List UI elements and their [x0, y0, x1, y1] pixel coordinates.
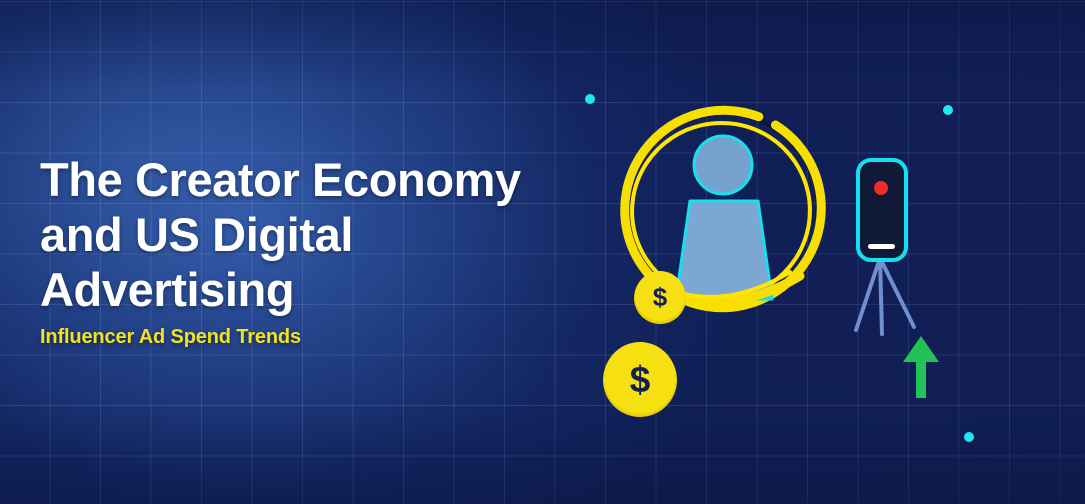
banner-root: The Creator Economy and US Digital Adver… [0, 0, 1085, 504]
page-subtitle: Influencer Ad Spend Trends [40, 326, 560, 349]
copy-block: The Creator Economy and US Digital Adver… [40, 152, 560, 349]
page-title: The Creator Economy and US Digital Adver… [40, 152, 560, 317]
